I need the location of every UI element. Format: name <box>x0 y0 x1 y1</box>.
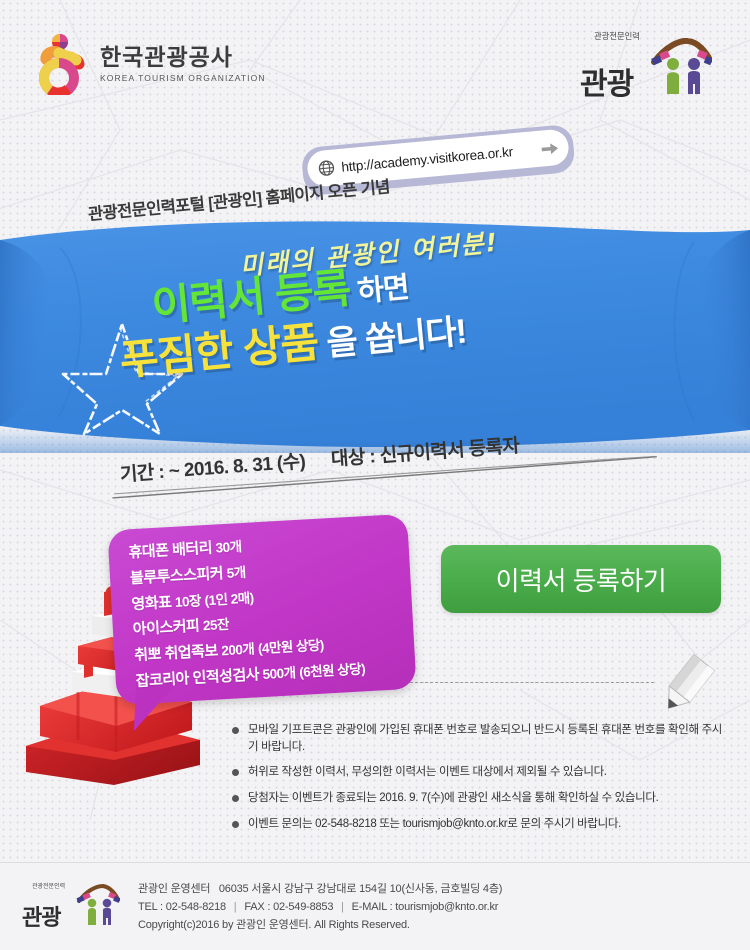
footer-copyright: Copyright(c)2016 by 관광인 운영센터. All Rights… <box>138 917 502 935</box>
list-item: 당첨자는 이벤트가 종료되는 2016. 9. 7(수)에 관광인 새소식을 통… <box>232 790 724 807</box>
gwangwang-in-logo[interactable]: 관광전문인력 관광 <box>576 28 714 100</box>
gwangwang-logo-sub: 관광전문인력 <box>594 30 640 42</box>
bullet-icon <box>232 795 239 802</box>
prize-name: 영화표 <box>131 594 172 613</box>
register-resume-button[interactable]: 이력서 등록하기 <box>441 545 721 613</box>
globe-icon <box>318 159 335 176</box>
bullet-icon <box>232 727 239 734</box>
list-item: 허위로 작성한 이력서, 무성의한 이력서는 이벤트 대상에서 제외될 수 있습… <box>232 764 724 781</box>
page-header: 한국관광공사 KOREA TOURISM ORGANIZATION 관광전문인력… <box>0 0 750 130</box>
footer-fax: FAX : 02-549-8853 <box>244 901 333 913</box>
bullet-icon <box>232 821 239 828</box>
prize-name: 아이스커피 <box>132 618 199 639</box>
prize-list: 휴대폰 배터리 30개 블루투스스피커 5개 영화표 10장 (1인 2매) 아… <box>107 514 416 705</box>
prize-qty: 5개 <box>226 565 246 581</box>
note-text: 모바일 기프트콘은 관광인에 가입된 휴대폰 번호로 발송되오니 반드시 등록된… <box>248 722 724 755</box>
gwangwang-logo-main: 관광 <box>580 70 633 100</box>
prize-note: (4만원 상당) <box>258 638 325 657</box>
footer-contact-line: TEL : 02-548-8218 | FAX : 02-549-8853 | … <box>138 899 502 917</box>
footer-logo-main: 관광 <box>22 907 60 929</box>
prize-qty: 30개 <box>215 539 242 555</box>
page-footer: 관광전문인력 관광 관광인 운영센터 06035 서울시 강남구 강남대로 15… <box>0 863 750 950</box>
kto-emblem-icon <box>32 33 88 95</box>
footer-zipcode: 06035 <box>219 883 249 895</box>
prize-note: (1인 2매) <box>204 590 254 608</box>
in-people-icon <box>76 884 120 928</box>
prize-qty: 200개 <box>221 642 255 659</box>
list-item: 모바일 기프트콘은 관광인에 가입된 휴대폰 번호로 발송되오니 반드시 등록된… <box>232 722 724 755</box>
prize-name: 취뽀 취업족보 <box>134 643 218 665</box>
arrow-right-icon[interactable] <box>541 141 559 154</box>
prize-qty: 10장 <box>175 593 202 609</box>
prize-name: 잡코리아 인적성검사 <box>135 666 259 690</box>
prize-qty: 500개 <box>262 665 296 682</box>
note-text: 허위로 작성한 이력서, 무성의한 이력서는 이벤트 대상에서 제외될 수 있습… <box>248 764 607 781</box>
footer-address-line: 관광인 운영센터 06035 서울시 강남구 강남대로 154길 10(신사동,… <box>138 881 502 899</box>
pencil-icon <box>650 654 720 720</box>
footer-email[interactable]: E-MAIL : tourismjob@knto.or.kr <box>352 901 499 913</box>
footer-logo-sub: 관광전문인력 <box>32 881 65 890</box>
list-item: 이벤트 문의는 02-548-8218 또는 tourismjob@knto.o… <box>232 816 724 833</box>
prize-speech-bubble: 휴대폰 배터리 30개 블루투스스피커 5개 영화표 10장 (1인 2매) 아… <box>107 514 416 705</box>
footer-tel: TEL : 02-548-8218 <box>138 901 226 913</box>
pencil-divider <box>410 660 730 674</box>
prize-name: 블루투스스피커 <box>130 565 224 587</box>
footer-address: 서울시 강남구 강남대로 154길 10(신사동, 금호빌딩 4층) <box>251 883 502 895</box>
in-people-icon <box>650 38 712 98</box>
url-text: http://academy.visitkorea.or.kr <box>341 144 514 175</box>
kto-name-ko: 한국관광공사 <box>100 46 266 69</box>
kto-logo[interactable]: 한국관광공사 KOREA TOURISM ORGANIZATION <box>32 33 266 95</box>
footer-center-name: 관광인 운영센터 <box>138 883 210 895</box>
note-text: 당첨자는 이벤트가 종료되는 2016. 9. 7(수)에 관광인 새소식을 통… <box>248 790 658 807</box>
kto-name-en: KOREA TOURISM ORGANIZATION <box>100 73 266 83</box>
dashed-line <box>410 682 654 683</box>
headline-1-rest: 하면 <box>349 272 410 309</box>
footer-logo[interactable]: 관광전문인력 관광 <box>22 878 120 930</box>
note-text: 이벤트 문의는 02-548-8218 또는 tourismjob@knto.o… <box>248 816 621 833</box>
prize-note: (6천원 상당) <box>299 661 366 680</box>
footer-contact: 관광인 운영센터 06035 서울시 강남구 강남대로 154길 10(신사동,… <box>138 881 502 934</box>
bullet-icon <box>232 769 239 776</box>
prize-name: 휴대폰 배터리 <box>128 540 212 562</box>
event-notes: 모바일 기프트콘은 관광인에 가입된 휴대폰 번호로 발송되오니 반드시 등록된… <box>232 722 724 841</box>
prize-qty: 25잔 <box>203 617 230 633</box>
